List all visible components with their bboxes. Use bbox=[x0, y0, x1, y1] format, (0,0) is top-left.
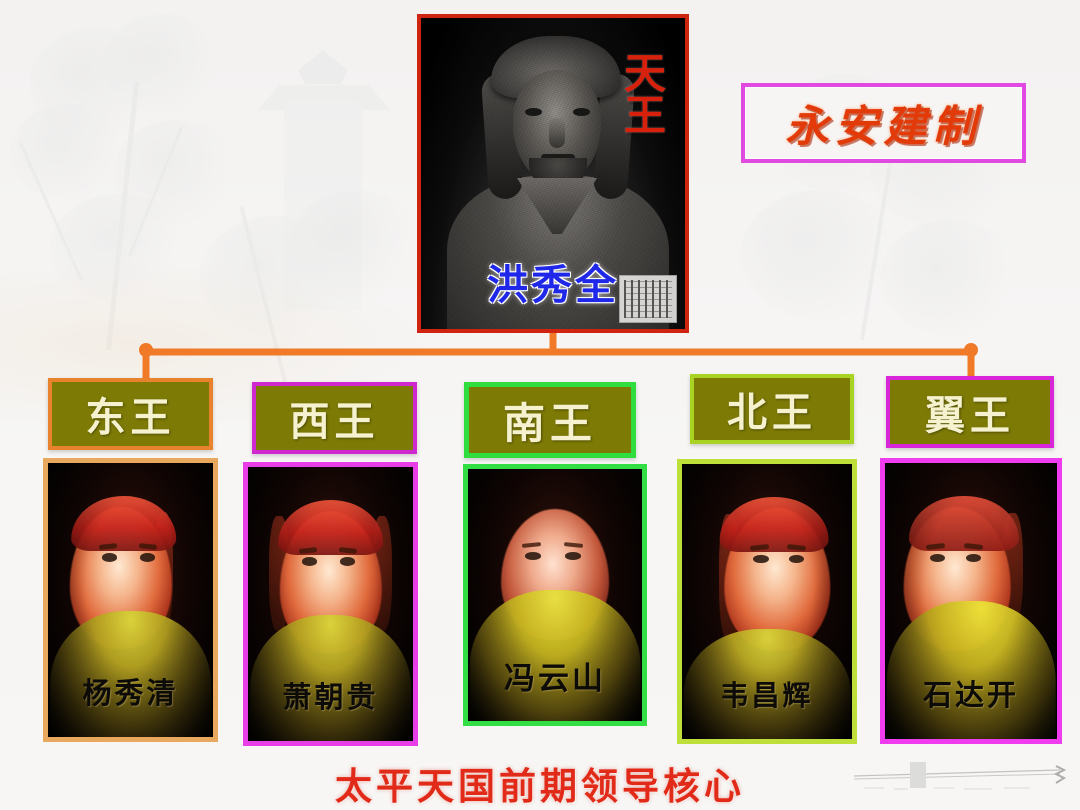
portrait-name-wei-changhui: 韦昌辉 bbox=[682, 674, 852, 714]
portrait-card-wei-changhui[interactable]: 韦昌辉 bbox=[677, 459, 857, 744]
connector-node-wing bbox=[964, 343, 978, 357]
rank-box-north-king-label: 北王 bbox=[727, 380, 817, 438]
corner-watermark bbox=[824, 760, 1074, 802]
rank-box-south-king-label: 南王 bbox=[503, 390, 597, 451]
rank-box-wing-king[interactable]: 翼王 bbox=[886, 376, 1054, 448]
connector-node-east bbox=[139, 343, 153, 357]
rank-box-west-king[interactable]: 西王 bbox=[252, 382, 417, 454]
portrait-card-feng-yunshan[interactable]: 冯云山 bbox=[463, 464, 647, 726]
rank-box-east-king[interactable]: 东王 bbox=[48, 378, 213, 450]
rank-box-east-king-label: 东王 bbox=[86, 385, 176, 443]
portrait-name-yang-xiuqing: 杨秀清 bbox=[48, 670, 213, 712]
rank-box-west-king-label: 西王 bbox=[290, 389, 380, 447]
portrait-card-shi-dakai[interactable]: 石达开 bbox=[880, 458, 1062, 744]
portrait-name-xiao-chaogui: 萧朝贵 bbox=[248, 674, 413, 716]
portrait-card-yang-xiuqing[interactable]: 杨秀清 bbox=[43, 458, 218, 742]
portrait-card-xiao-chaogui[interactable]: 萧朝贵 bbox=[243, 462, 418, 746]
rank-box-wing-king-label: 翼王 bbox=[925, 383, 1015, 441]
slide-canvas: 永安建制 天王 洪秀全 bbox=[0, 0, 1080, 810]
portrait-name-shi-dakai: 石达开 bbox=[885, 672, 1057, 714]
rank-box-north-king[interactable]: 北王 bbox=[690, 374, 854, 444]
rank-box-south-king[interactable]: 南王 bbox=[464, 382, 636, 458]
portrait-name-feng-yunshan: 冯云山 bbox=[468, 653, 642, 698]
